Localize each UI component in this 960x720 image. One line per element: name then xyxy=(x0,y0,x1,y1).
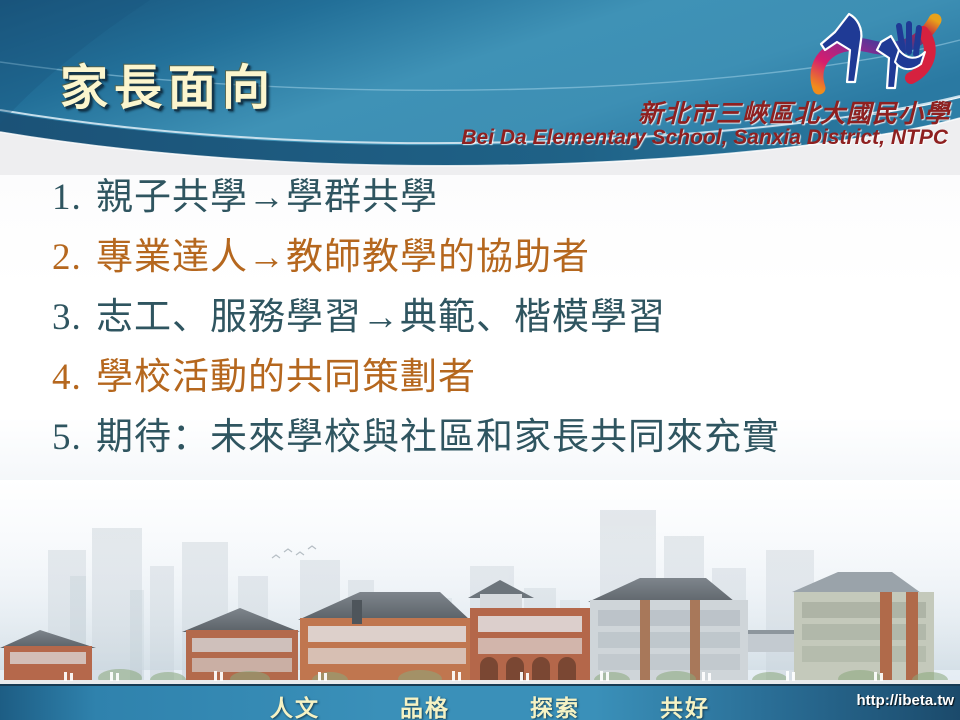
list-item-text: 專業達人→教師教學的協助者 xyxy=(96,237,590,278)
list-item-text: 親子共學→學群共學 xyxy=(96,177,438,218)
page-title: 家長面向 xyxy=(60,48,276,118)
school-emblem-icon xyxy=(803,2,948,102)
list-item: 1.親子共學→學群共學 xyxy=(52,168,932,228)
content-list: 1.親子共學→學群共學 2.專業達人→教師教學的協助者 3.志工、服務學習→典範… xyxy=(52,168,932,468)
list-item: 5.期待：未來學校與社區和家長共同來充實 xyxy=(52,408,932,468)
list-item-text: 志工、服務學習→典範、楷模學習 xyxy=(96,297,666,338)
footer-motto-word: 共好 xyxy=(660,689,710,720)
footer-url-link[interactable]: http://ibeta.tw xyxy=(857,692,955,709)
list-item-text: 期待：未來學校與社區和家長共同來充實 xyxy=(96,417,780,458)
footer-motto-word: 人文 xyxy=(270,689,320,720)
list-item: 3.志工、服務學習→典範、楷模學習 xyxy=(52,288,932,348)
list-item-number: 4. xyxy=(52,348,96,408)
school-name-english: Bei Da Elementary School, Sanxia Distric… xyxy=(461,126,948,150)
presentation-slide: 家長面向 新北市三峽區北大國民 xyxy=(0,0,960,720)
school-name-chinese: 新北市三峽區北大國民小學 xyxy=(638,94,950,130)
school-logo-block: 新北市三峽區北大國民小學 Bei Da Elementary School, S… xyxy=(616,2,956,152)
list-item-number: 2. xyxy=(52,228,96,288)
footer-motto-word: 探索 xyxy=(530,689,580,720)
footer-motto-group: 人文 品格 探索 共好 xyxy=(270,689,710,720)
list-item-number: 3. xyxy=(52,288,96,348)
list-item-text: 學校活動的共同策劃者 xyxy=(96,357,476,398)
footer-bar: 人文 品格 探索 共好 http://ibeta.tw xyxy=(0,684,960,720)
list-item-number: 1. xyxy=(52,168,96,228)
list-item: 4.學校活動的共同策劃者 xyxy=(52,348,932,408)
list-item-number: 5. xyxy=(52,408,96,468)
footer-motto-word: 品格 xyxy=(400,689,450,720)
list-item: 2.專業達人→教師教學的協助者 xyxy=(52,228,932,288)
